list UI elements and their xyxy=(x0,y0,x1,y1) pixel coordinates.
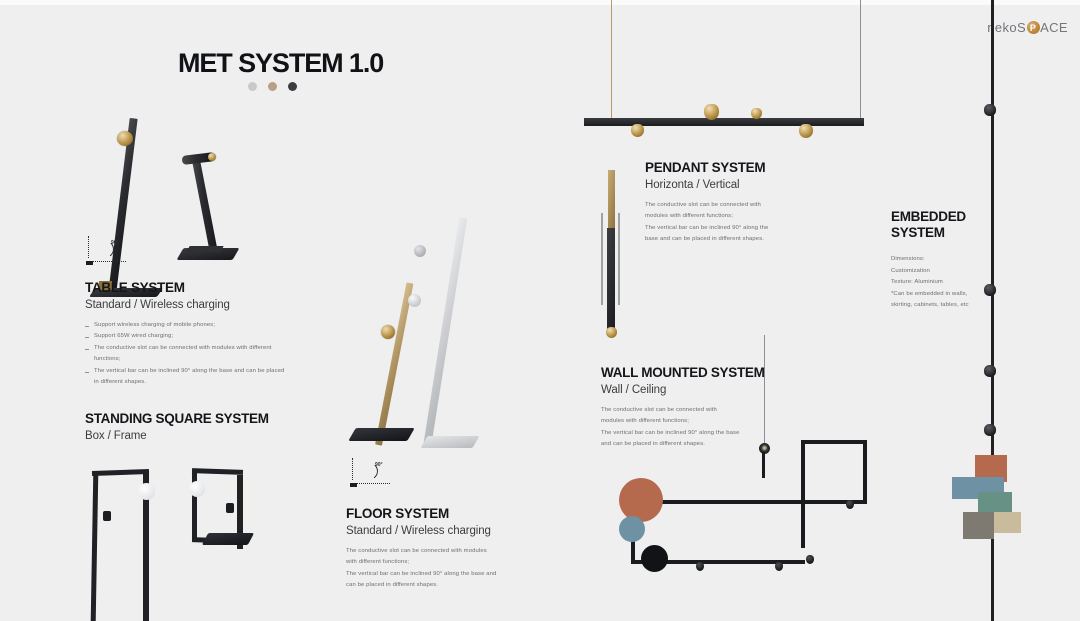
track-vertical-left xyxy=(801,440,805,548)
table-system-subtitle: Standard / Wireless charging xyxy=(85,299,320,311)
table-lamp-brass-module xyxy=(117,131,133,146)
terracotta-disc xyxy=(619,478,663,522)
list-item: The vertical bar can be inclined 90° alo… xyxy=(85,366,320,378)
track-lamp-module xyxy=(846,500,854,509)
frame-spot-module xyxy=(103,511,111,521)
pendant-cord xyxy=(860,0,861,118)
track-lamp-module xyxy=(696,562,704,571)
list-item: in different shapes. xyxy=(85,377,320,389)
floor-lamp-wood-stem xyxy=(375,282,413,445)
ceiling-drop-bar xyxy=(762,452,765,478)
floor-lamp-base xyxy=(348,428,415,441)
pendant-system-subtitle: Horizonta / Vertical xyxy=(645,179,845,191)
steel-blue-disc xyxy=(619,516,645,542)
embedded-system-title: EMBEDDED SYSTEM xyxy=(891,209,991,240)
frame-globe-light xyxy=(138,483,155,500)
table-lamp-base-pad xyxy=(186,246,223,252)
floor-system-title: FLOOR SYSTEM xyxy=(346,506,566,522)
page-title: MET SYSTEM 1.0 xyxy=(178,48,383,79)
body-line: Dimensions: xyxy=(891,254,991,266)
pendant-spot-module xyxy=(751,108,762,119)
body-line: with different functions; xyxy=(346,557,566,569)
ceiling-drop-cord xyxy=(764,335,765,448)
list-item: The conductive slot can be connected wit… xyxy=(85,343,320,355)
list-item: Support 65W wired charging; xyxy=(85,331,320,343)
body-line: The conductive slot can be connected wit… xyxy=(601,405,816,417)
palette-dots xyxy=(248,82,297,91)
palette-dot-tan xyxy=(268,82,277,91)
rotation-horizontal-guide xyxy=(88,261,126,262)
rotation-base xyxy=(86,261,93,265)
floor-system-subtitle: Standard / Wireless charging xyxy=(346,525,566,537)
body-line: base and can be placed in different shap… xyxy=(645,234,845,246)
rotation-angle-label: 90° xyxy=(111,240,119,246)
body-line: The conductive slot can be connected wit… xyxy=(645,200,845,212)
box-frame-globe-light xyxy=(189,481,205,497)
table-lamp-stem xyxy=(191,154,219,259)
wall-mounted-system-body: The conductive slot can be connected wit… xyxy=(601,405,816,451)
body-line: The vertical bar can be inclined 90° alo… xyxy=(346,569,566,581)
floor-lamp-silver-base xyxy=(421,436,480,448)
floor-rotation-diagram: 90° xyxy=(349,458,393,488)
embedded-system-section: EMBEDDED SYSTEM Dimensions: Customizatio… xyxy=(891,209,991,312)
pendant-cord xyxy=(611,0,612,118)
track-horizontal-mid xyxy=(801,500,867,504)
body-line: The conductive slot can be connected wit… xyxy=(346,546,566,558)
pendant-system-section: PENDANT SYSTEM Horizonta / Vertical The … xyxy=(645,160,845,246)
standing-square-system-title: STANDING SQUARE SYSTEM xyxy=(85,411,335,427)
body-line: Customization xyxy=(891,266,991,278)
standing-square-system-subtitle: Box / Frame xyxy=(85,430,335,442)
wall-mounted-system-subtitle: Wall / Ceiling xyxy=(601,384,816,396)
brand-badge-icon: P xyxy=(1027,21,1040,34)
pendant-bottom-spot xyxy=(606,327,617,338)
table-system-section: TABLE SYSTEM Standard / Wireless chargin… xyxy=(85,280,320,389)
rotation-base xyxy=(350,483,357,487)
table-system-bullets: Support wireless charging of mobile phon… xyxy=(85,320,320,389)
list-item: Support wireless charging of mobile phon… xyxy=(85,320,320,332)
standing-square-system-section: STANDING SQUARE SYSTEM Box / Frame xyxy=(85,411,335,442)
floor-lamp-silver-stem xyxy=(423,217,467,447)
pendant-vertical-bar xyxy=(608,170,615,228)
body-line: can be placed in different shapes. xyxy=(346,580,566,592)
rotation-angle-label: 90° xyxy=(375,462,383,468)
table-system-title: TABLE SYSTEM xyxy=(85,280,320,296)
floor-lamp-silver-knob xyxy=(414,245,426,257)
body-line: modules with different functions; xyxy=(645,211,845,223)
floor-system-body: The conductive slot can be connected wit… xyxy=(346,546,566,592)
box-frame-base xyxy=(202,533,254,545)
track-lamp-module xyxy=(806,555,814,564)
track-horizontal-top xyxy=(801,440,867,444)
pendant-vertical-bar-lower xyxy=(607,228,615,336)
body-line: The vertical bar can be inclined 90° alo… xyxy=(645,223,845,235)
material-swatch-warm-gray xyxy=(963,512,994,539)
pendant-horizontal-bar xyxy=(584,118,864,126)
palette-dot-dark-gray xyxy=(288,82,297,91)
pendant-system-title: PENDANT SYSTEM xyxy=(645,160,845,176)
brand-name-suffix: ACE xyxy=(1040,20,1068,35)
pendant-side-rail xyxy=(601,213,603,305)
pendant-spot-module xyxy=(799,124,813,138)
body-line: modules with different functions; xyxy=(601,416,816,428)
list-item: functions; xyxy=(85,354,320,366)
pendant-side-rail xyxy=(618,213,620,305)
black-disc xyxy=(641,545,668,572)
poster-canvas: MET SYSTEM 1.0 nekoSPACE 90° TABLE SYSTE… xyxy=(0,0,1080,621)
embedded-track-module xyxy=(984,284,996,296)
palette-dot-light-gray xyxy=(248,82,257,91)
pendant-spot-module xyxy=(704,104,719,120)
embedded-track-module xyxy=(984,104,996,116)
embedded-track-module xyxy=(984,424,996,436)
frame-top-rail xyxy=(92,469,149,476)
table-lamp-brass-joint xyxy=(208,153,216,161)
brand-logo: nekoSPACE xyxy=(987,20,1068,35)
body-line: skirting, cabinets, tables, etc xyxy=(891,300,991,312)
box-frame-top-rail xyxy=(192,468,243,475)
wall-mounted-system-section: WALL MOUNTED SYSTEM Wall / Ceiling The c… xyxy=(601,365,816,451)
pendant-system-body: The conductive slot can be connected wit… xyxy=(645,200,845,246)
top-edge-strip xyxy=(0,0,1080,5)
floor-lamp-silver-ring-module xyxy=(408,294,421,307)
frame-left-post xyxy=(91,474,99,621)
table-rotation-diagram: 90° xyxy=(85,236,129,266)
floor-lamp-brass-module xyxy=(381,325,395,339)
body-line: The vertical bar can be inclined 90° alo… xyxy=(601,428,816,440)
floor-system-section: FLOOR SYSTEM Standard / Wireless chargin… xyxy=(346,506,566,592)
embedded-system-body: Dimensions: Customization Texture: Alumi… xyxy=(891,254,991,312)
body-line: *Can be embedded in walls, xyxy=(891,289,991,301)
box-frame-spot-module xyxy=(226,503,234,513)
body-line: Texture: Aluminium xyxy=(891,277,991,289)
rotation-horizontal-guide xyxy=(352,483,390,484)
embedded-track-module xyxy=(984,365,996,377)
track-vertical-right xyxy=(863,440,867,504)
body-line: and can be placed in different shapes. xyxy=(601,439,816,451)
pendant-spot-module xyxy=(631,124,644,137)
wall-mounted-system-title: WALL MOUNTED SYSTEM xyxy=(601,365,816,381)
track-lamp-module xyxy=(775,562,783,571)
